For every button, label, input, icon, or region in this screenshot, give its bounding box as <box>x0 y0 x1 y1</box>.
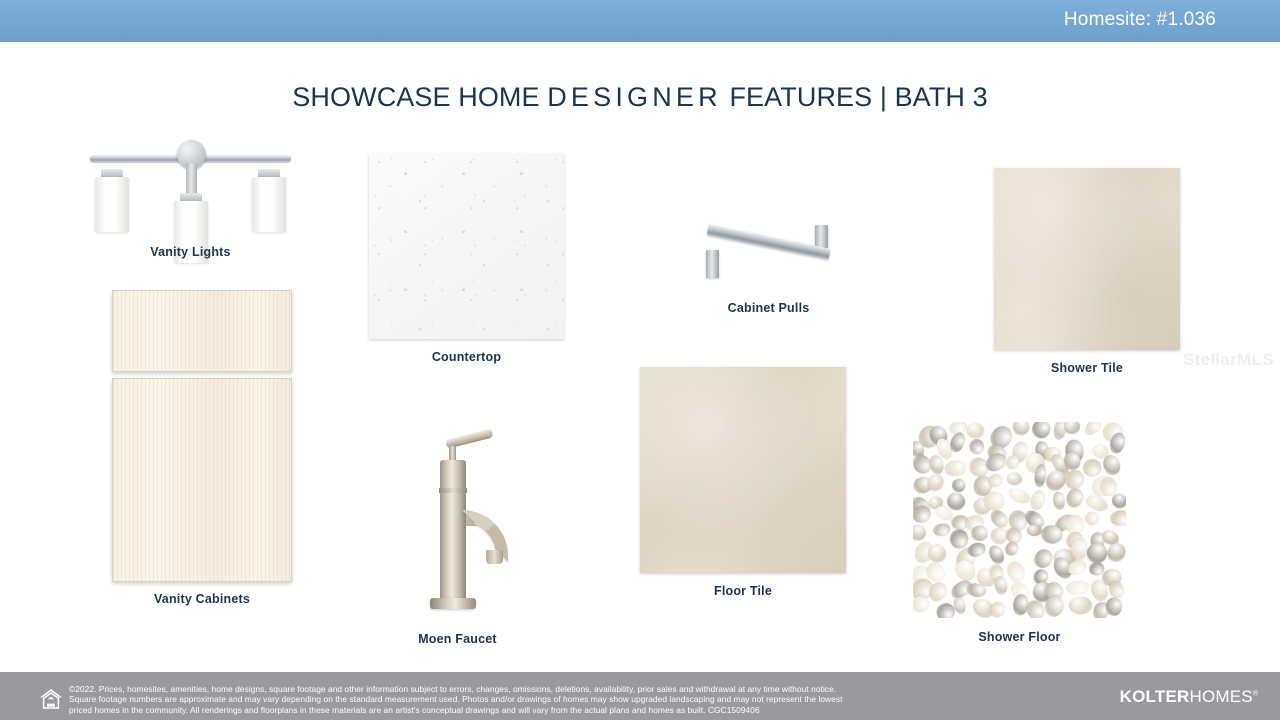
equal-housing-opportunity-icon <box>38 686 64 712</box>
feature-label: Vanity Lights <box>88 245 293 259</box>
tile-swatch-icon <box>994 168 1180 350</box>
pebble <box>932 523 951 538</box>
pebble <box>1083 422 1104 437</box>
light-shade <box>252 177 286 232</box>
disclaimer-line-1: ©2022. Prices, homesites, amenities, hom… <box>69 684 1089 694</box>
homesite-label: Homesite: #1.036 <box>1064 9 1216 31</box>
feature-shower-tile[interactable]: Shower Tile <box>994 168 1180 375</box>
pebble <box>1070 538 1088 561</box>
page-title-designer: DESIGNER <box>547 82 722 112</box>
faucet-spout-tip <box>486 550 503 564</box>
pebble <box>1109 510 1126 526</box>
pebble <box>1069 597 1092 614</box>
pebble <box>1083 459 1101 477</box>
pebble <box>966 422 984 438</box>
footer-disclaimer: ©2022. Prices, homesites, amenities, hom… <box>69 684 1089 715</box>
pebble <box>1083 510 1100 527</box>
pebble-mosaic-swatch-icon <box>913 422 1126 618</box>
pebble <box>1031 422 1051 439</box>
pebble <box>1101 453 1123 477</box>
quartz-swatch-icon <box>369 154 564 339</box>
faucet-icon <box>400 432 515 620</box>
feature-moen-faucet[interactable]: Moen Faucet <box>400 432 515 620</box>
disclaimer-line-3: priced homes in the community. All rende… <box>69 705 1089 715</box>
faucet-collar <box>439 488 467 493</box>
pebble <box>1064 486 1086 510</box>
feature-label: Cabinet Pulls <box>690 301 847 315</box>
cabinet-drawer-front <box>112 290 292 372</box>
page-title-part3: FEATURES | BATH 3 <box>722 82 988 112</box>
pebble <box>1084 493 1110 513</box>
feature-shower-floor[interactable]: Shower Floor <box>913 422 1126 618</box>
light-shade <box>95 177 129 232</box>
pebble <box>1006 472 1022 486</box>
pebble <box>1066 579 1090 595</box>
pull-bar <box>707 224 831 260</box>
faucet-base <box>430 598 476 609</box>
pebble <box>1029 489 1047 512</box>
feature-vanity-lights[interactable]: Vanity Lights <box>88 133 293 233</box>
vanity-light-fixture-icon <box>88 133 293 233</box>
pebble <box>1010 422 1033 439</box>
cabinet-door-sample-icon <box>112 378 292 582</box>
feature-label: Countertop <box>369 350 564 364</box>
feature-floor-tile[interactable]: Floor Tile <box>640 367 846 598</box>
pebble <box>987 506 1010 530</box>
page-title-part1: SHOWCASE HOME <box>292 82 547 112</box>
logo-trademark: ® <box>1253 690 1258 697</box>
feature-label: Shower Tile <box>994 361 1180 375</box>
logo-kolter: KOLTER <box>1120 687 1190 706</box>
pebble <box>1063 422 1081 435</box>
feature-cabinet-pulls[interactable]: Cabinet Pulls <box>690 218 847 280</box>
pebble <box>945 459 967 476</box>
kolter-homes-logo: KOLTERHOMES® <box>1120 687 1258 707</box>
tile-swatch-icon <box>640 367 846 573</box>
header-bar: Homesite: #1.036 <box>0 0 1280 42</box>
logo-homes: HOMES <box>1189 687 1252 706</box>
pebble <box>993 576 1009 596</box>
pebble <box>1106 597 1122 616</box>
pebble <box>986 543 1006 566</box>
pebble <box>1031 546 1056 571</box>
pull-leg <box>706 250 719 278</box>
page-title: SHOWCASE HOME DESIGNER FEATURES | BATH 3 <box>0 82 1280 113</box>
feature-countertop[interactable]: Countertop <box>369 154 564 364</box>
slide-root: Homesite: #1.036 SHOWCASE HOME DESIGNER … <box>0 0 1280 720</box>
pebble <box>1008 486 1032 505</box>
pebble <box>970 525 987 540</box>
pebble <box>951 478 965 492</box>
pebble <box>970 438 986 455</box>
pebble <box>1104 540 1126 565</box>
cabinet-pull-bar-icon <box>690 218 847 280</box>
pebble <box>913 521 928 542</box>
pebble <box>1052 491 1066 510</box>
feature-label: Floor Tile <box>640 584 846 598</box>
feature-label: Vanity Cabinets <box>112 592 292 606</box>
pebble <box>948 431 966 454</box>
disclaimer-line-2: Square footage numbers are approximate a… <box>69 694 1089 704</box>
feature-label: Shower Floor <box>913 630 1126 644</box>
feature-vanity-cabinets[interactable]: Vanity Cabinets <box>112 290 292 606</box>
feature-label: Moen Faucet <box>400 632 515 646</box>
stellar-mls-watermark: StellarMLS <box>1183 350 1274 370</box>
light-stem <box>186 163 197 197</box>
pebble <box>1005 560 1027 584</box>
pebble <box>948 527 969 549</box>
